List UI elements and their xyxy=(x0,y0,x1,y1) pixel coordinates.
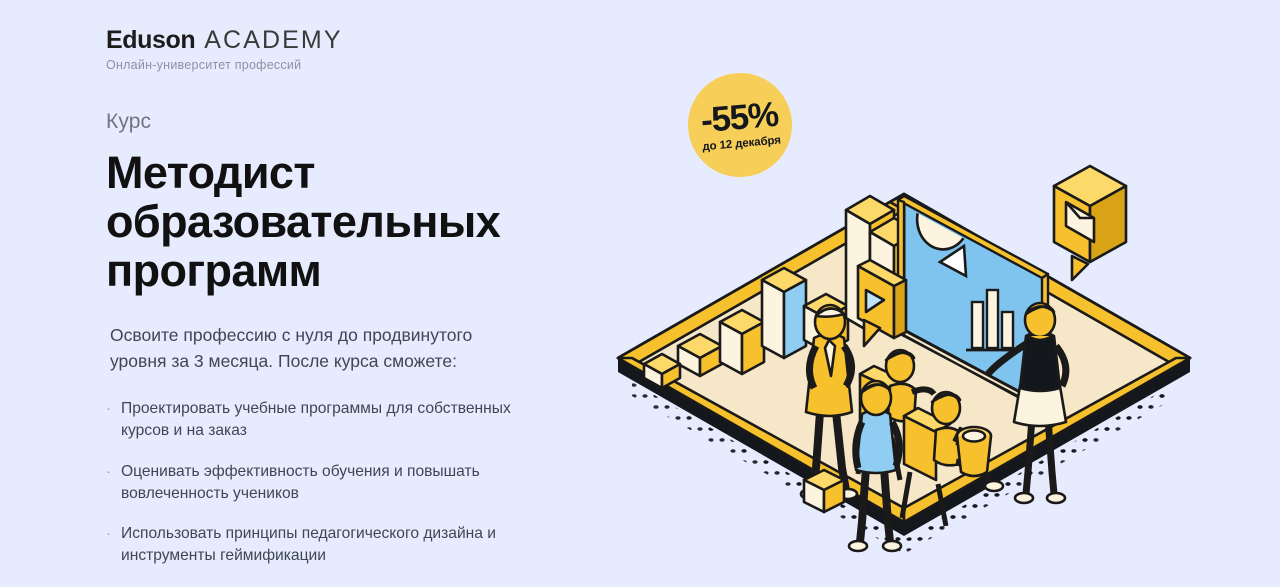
bar-column-3-highlighted xyxy=(762,268,806,358)
landing-hero-page: Eduson ACADEMY Онлайн-университет профес… xyxy=(0,0,1280,587)
message-bubble-envelope xyxy=(1054,166,1126,280)
isometric-classroom-illustration xyxy=(608,150,1208,570)
trash-bin xyxy=(957,427,991,476)
list-item-label: Оценивать эффективность обучения и повыш… xyxy=(121,461,556,505)
list-item-label: Проектировать учебные программы для собс… xyxy=(121,398,556,442)
logo-brand-suffix: ACADEMY xyxy=(204,28,342,53)
logo-tagline: Онлайн-университет профессий xyxy=(106,58,686,72)
hero-content: Eduson ACADEMY Онлайн-университет профес… xyxy=(106,28,686,587)
discount-value: -55% xyxy=(699,97,779,139)
bullet-marker-icon: · xyxy=(106,461,111,505)
list-item-label: Использовать принципы педагогического ди… xyxy=(121,523,556,567)
bullet-marker-icon: · xyxy=(106,523,111,567)
list-item: · Использовать принципы педагогического … xyxy=(106,523,556,567)
hero-illustration xyxy=(608,150,1208,570)
hero-subtitle: Освоите профессию с нуля до продвинутого… xyxy=(110,323,530,374)
list-item: · Оценивать эффективность обучения и пов… xyxy=(106,461,556,505)
bullet-marker-icon: · xyxy=(106,398,111,442)
page-title: Методист образовательных программ xyxy=(106,148,686,295)
floor-cube xyxy=(804,470,844,512)
course-eyebrow-label: Курс xyxy=(106,110,686,134)
list-item: · Проектировать учебные программы для со… xyxy=(106,398,556,442)
logo-wordmark: Eduson ACADEMY xyxy=(106,28,686,53)
course-benefits-list: · Проектировать учебные программы для со… xyxy=(106,398,556,567)
bar-column-2 xyxy=(720,310,764,374)
site-logo[interactable]: Eduson ACADEMY Онлайн-университет профес… xyxy=(106,28,686,72)
logo-brand-name: Eduson xyxy=(106,28,195,53)
